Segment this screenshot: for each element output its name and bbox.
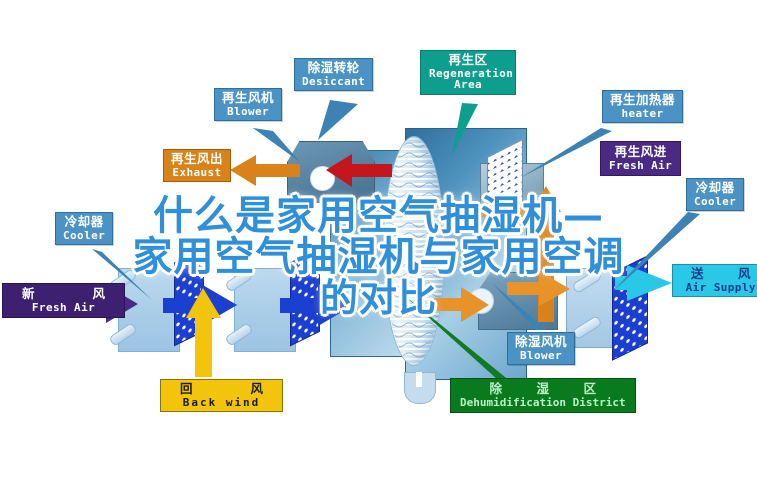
label-cn: 再生加热器 — [610, 94, 675, 108]
label-cn: 冷却器 — [694, 182, 736, 196]
label-en: Blower — [515, 350, 567, 362]
dehumidifier-diagram: 除湿转轮 Desiccant 再生风机 Blower 再生风出 Exhaust … — [0, 0, 757, 488]
label-en: Desiccant — [302, 76, 365, 88]
label-en: Back wind — [169, 397, 274, 409]
label-cn: 除 湿 区 — [460, 383, 626, 397]
regen-inlet-arrow — [326, 154, 392, 187]
label-en: Dehumidification District — [460, 397, 626, 409]
label-regen-heater[interactable]: 再生加热器 heater — [602, 90, 683, 123]
headline-line-1: 什么是家用空气抽湿机— — [0, 196, 757, 237]
headline-line-2: 家用空气抽湿机与家用空调 — [0, 237, 757, 278]
label-en: heater — [610, 108, 675, 120]
label-cn: 除湿风机 — [515, 336, 567, 350]
label-en: Fresh Air — [609, 160, 672, 172]
label-regen-fresh-air[interactable]: 再生风进 Fresh Air — [600, 141, 681, 176]
label-cn: 再生风进 — [609, 146, 672, 160]
label-cn: 回 风 — [169, 383, 274, 397]
label-cn: 再生区 — [429, 54, 507, 68]
headline-line-3: 的对比 — [0, 278, 757, 319]
label-dehum-district[interactable]: 除 湿 区 Dehumidification District — [450, 378, 636, 413]
label-back-wind[interactable]: 回 风 Back wind — [160, 379, 283, 412]
label-cn: 再生风出 — [171, 153, 223, 167]
label-regen-blower[interactable]: 再生风机 Blower — [214, 88, 282, 121]
label-desiccant-wheel[interactable]: 除湿转轮 Desiccant — [294, 58, 373, 91]
label-regen-exhaust[interactable]: 再生风出 Exhaust — [163, 149, 231, 182]
label-regen-area[interactable]: 再生区 Regeneration Area — [420, 50, 516, 95]
label-en: Exhaust — [171, 167, 223, 179]
headline-overlay: 什么是家用空气抽湿机— 家用空气抽湿机与家用空调 的对比 — [0, 196, 757, 319]
label-en: Regeneration Area — [429, 68, 507, 92]
label-dehum-blower[interactable]: 除湿风机 Blower — [507, 332, 575, 365]
label-cn: 除湿转轮 — [302, 62, 365, 76]
label-cn: 再生风机 — [222, 92, 274, 106]
exhaust-arrow — [230, 155, 300, 186]
label-en: Blower — [222, 106, 274, 118]
